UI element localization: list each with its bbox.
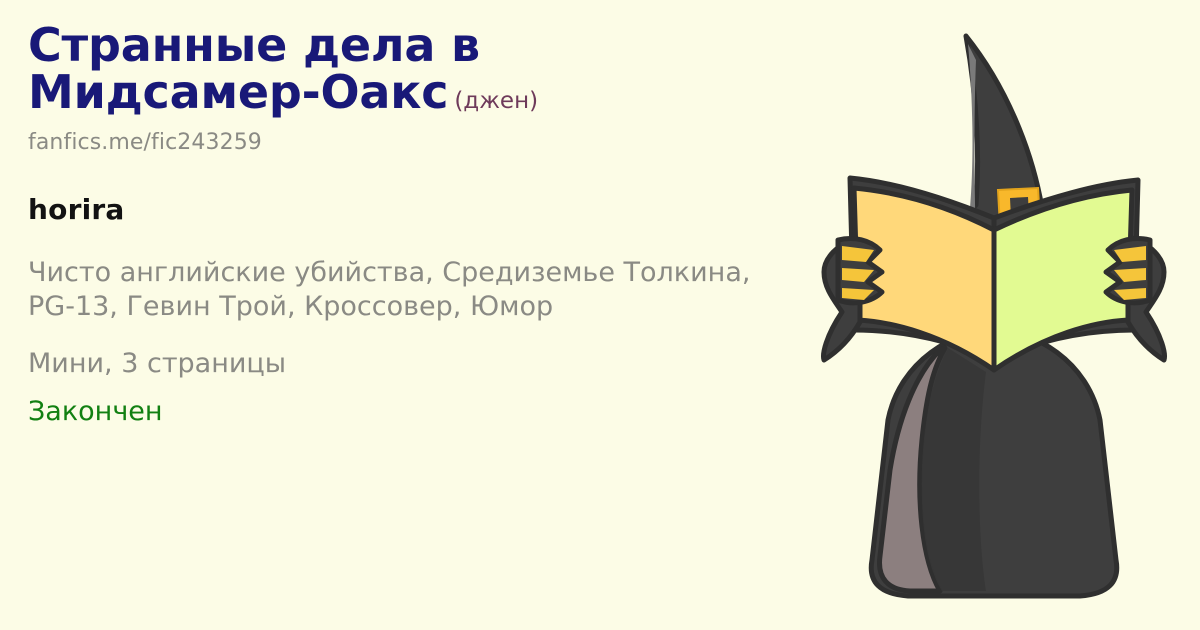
story-card: Странные дела в Мидсамер-Оакс(джен) fanf… (0, 0, 1200, 630)
left-hand (824, 238, 882, 360)
cover-illustration (780, 0, 1200, 630)
page-title: Странные дела в Мидсамер-Оакс(джен) (28, 22, 768, 117)
right-hand (1106, 238, 1164, 360)
story-url[interactable]: fanfics.me/fic243259 (28, 130, 790, 155)
story-text-column: Странные дела в Мидсамер-Оакс(джен) fanf… (0, 0, 790, 427)
story-title: Странные дела в Мидсамер-Оакс (28, 18, 480, 119)
story-tags: Чисто английские убийства, Средиземье То… (28, 256, 783, 325)
story-author[interactable]: horira (28, 193, 790, 226)
status-badge: Закончен (28, 396, 790, 427)
story-size: Мини, 3 страницы (28, 348, 790, 379)
story-genre-tag: (джен) (454, 88, 538, 114)
